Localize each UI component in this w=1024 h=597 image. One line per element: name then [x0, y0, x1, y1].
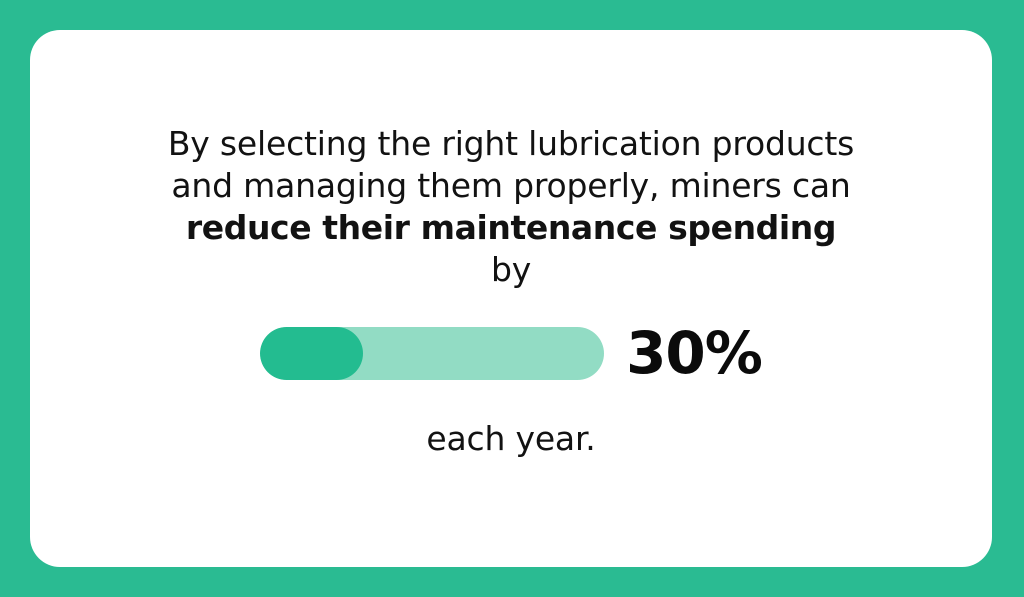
footer-text: each year.	[426, 418, 595, 460]
content-card: By selecting the right lubrication produ…	[30, 30, 992, 567]
headline-text: By selecting the right lubrication produ…	[161, 123, 861, 291]
progress-bar-fill	[260, 327, 363, 380]
infographic-root: By selecting the right lubrication produ…	[0, 0, 1024, 597]
headline-segment-trailing: by	[491, 250, 531, 289]
headline-segment-emphasis: reduce their maintenance spending	[186, 208, 836, 247]
headline-segment-leading: By selecting the right lubrication produ…	[168, 124, 854, 205]
progress-bar-track	[260, 327, 604, 380]
progress-value-label: 30%	[626, 324, 762, 382]
progress-row: 30%	[30, 324, 992, 382]
